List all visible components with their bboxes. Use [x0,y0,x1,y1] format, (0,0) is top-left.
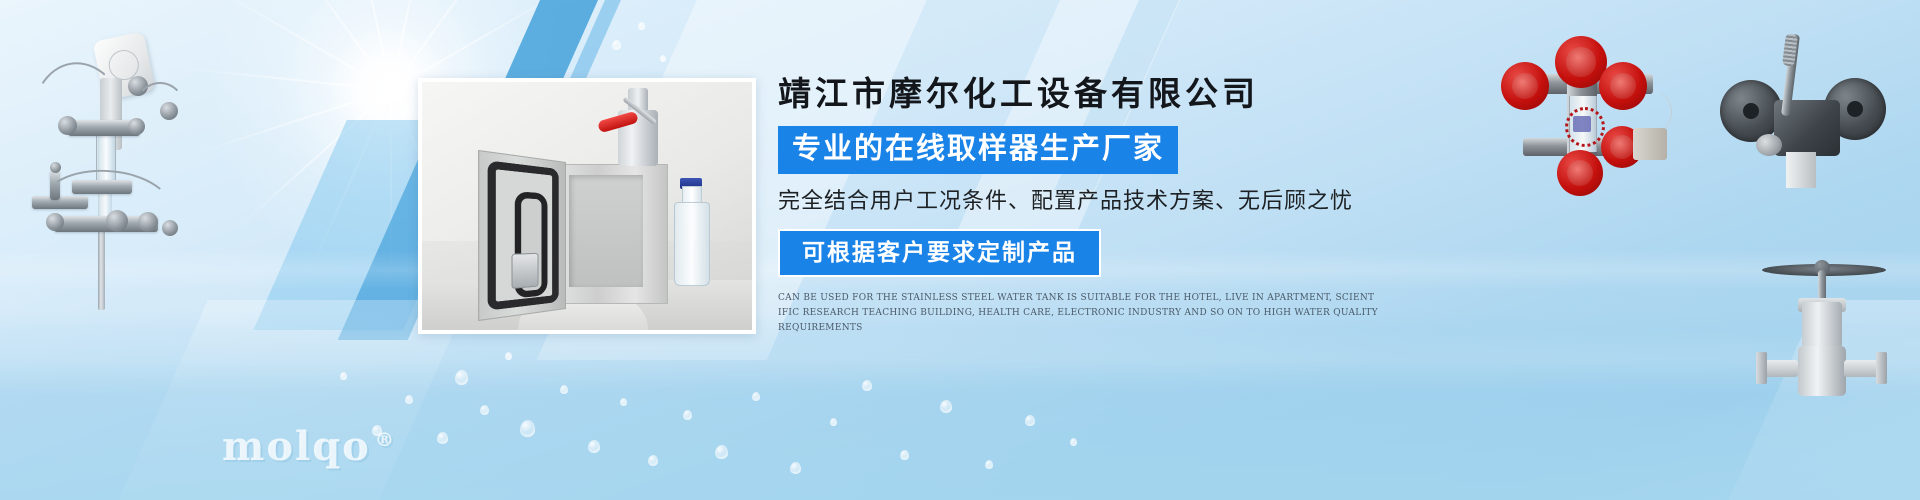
product-photo-frame [418,78,756,334]
gate-end-flange-left [1756,352,1767,384]
sample-tube-lower [37,165,176,252]
drain-vessel [1633,128,1667,160]
sampling-cabinet-photo [422,82,752,330]
custom-product-badge: 可根据客户要求定制产品 [778,229,1101,277]
sample-tube-right [134,82,186,138]
sampling-valve-assembly [608,88,664,170]
flange-left [1720,80,1782,142]
watermark-text: molqo [222,423,371,470]
product-flanged-lever-valve [1700,22,1900,187]
cabinet-interior [569,175,643,287]
sample-bottle [674,202,710,286]
handwheel-left [1501,62,1549,110]
cabinet-door [478,150,566,321]
product-gate-valve [1740,242,1920,412]
gate-bonnet [1802,302,1842,348]
gate-arm-left [1762,360,1798,377]
gate-end-flange-right [1876,352,1887,384]
ribbon-bottom-left-sheen [92,300,468,500]
promotional-banner: molqo® [0,0,1920,500]
secondary-tagline: 完全结合用户工况条件、配置产品技术方案、无后顾之忧 [778,186,1418,216]
water-surface [0,310,1920,500]
watermark-logo: molqo® [222,423,396,470]
primary-tagline-badge: 专业的在线取样器生产厂家 [778,126,1178,174]
brand-seal-icon [1559,104,1605,144]
english-description: CAN BE USED FOR THE STAINLESS STEEL WATE… [778,291,1378,336]
company-title: 靖江市摩尔化工设备有限公司 [778,72,1418,116]
door-gasket [488,160,559,310]
door-latch [512,253,539,289]
gate-body [1798,346,1846,396]
cabinet-body [560,164,668,304]
product-cross-valve-manifold [1483,22,1683,172]
wave-band-lower [0,330,1920,390]
registered-mark-icon: ® [375,429,396,451]
product-sampler-on-stand [10,20,200,310]
outlet-pipe [1786,152,1816,188]
banner-text-block: 靖江市摩尔化工设备有限公司 专业的在线取样器生产厂家 完全结合用户工况条件、配置… [778,72,1418,336]
side-cap [1756,134,1782,156]
handwheel-bottom [1557,150,1603,196]
seal-monogram [1573,116,1591,132]
gate-arm-right [1844,360,1880,377]
